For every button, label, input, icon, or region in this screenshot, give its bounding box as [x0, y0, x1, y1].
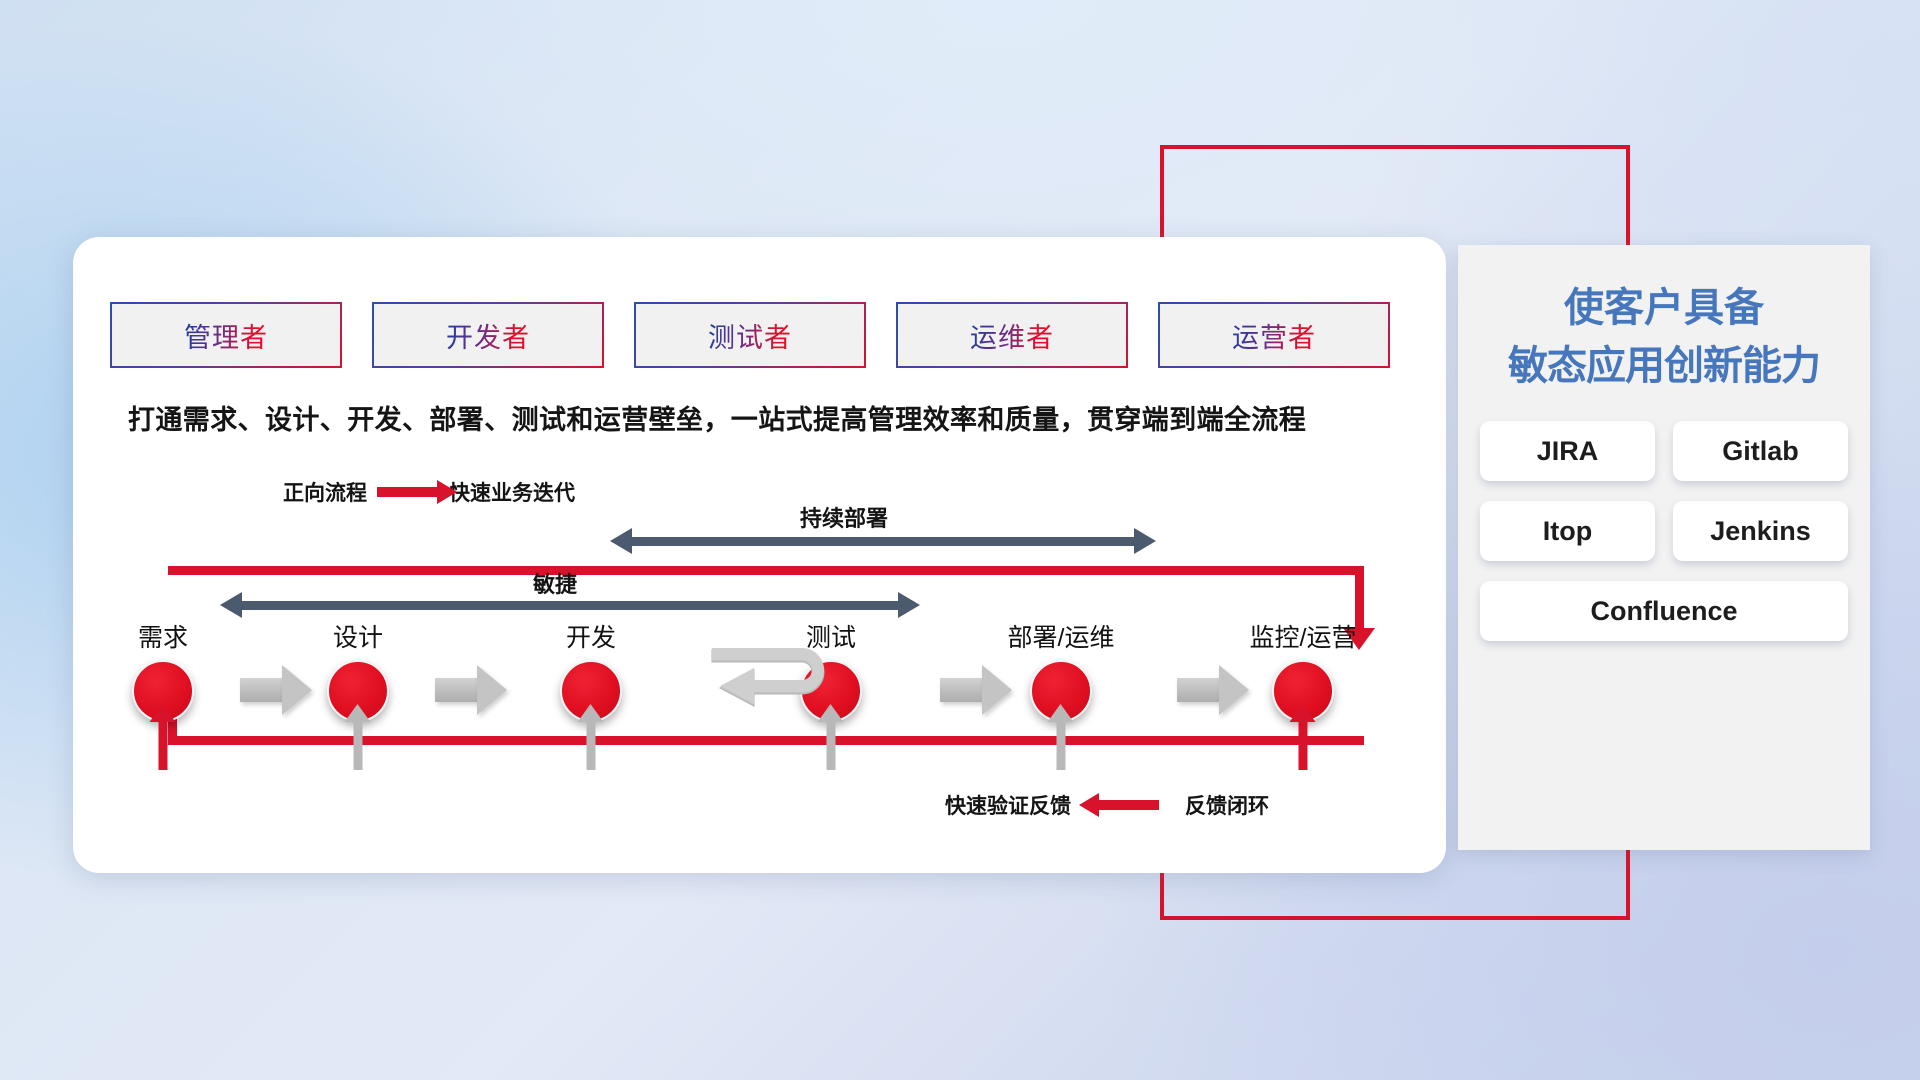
arrow-left-red-icon [1097, 800, 1159, 810]
flow-node-stem [159, 720, 168, 770]
flow-node-label: 需求 [138, 618, 188, 654]
flow-node-requirement[interactable]: 需求 [132, 660, 194, 722]
double-arrow-agile-icon [240, 601, 900, 610]
iteration-loop-arrow-icon [710, 640, 850, 720]
legend-feedback-right-label: 反馈闭环 [1185, 790, 1269, 820]
legend-feedback-left-label: 快速验证反馈 [945, 790, 1071, 820]
flow-node-label: 设计 [333, 618, 383, 654]
flow-node-stem [1299, 720, 1308, 770]
flow-node-label: 开发 [566, 618, 616, 654]
flow-node-deploy-ops[interactable]: 部署/运维 [1030, 660, 1092, 722]
span-label-agile: 敏捷 [533, 567, 577, 599]
flow-node-stem [354, 720, 363, 770]
double-arrow-continuous-deployment-icon [630, 537, 1136, 546]
legend-feedback-loop: 快速验证反馈 反馈闭环 [945, 790, 1269, 820]
span-label-continuous-deployment: 持续部署 [800, 501, 888, 533]
flow-node-design[interactable]: 设计 [327, 660, 389, 722]
flow-node-stem [1057, 720, 1066, 770]
flow-node-monitor-operations[interactable]: 监控/运营 [1272, 660, 1334, 722]
flow-node-stem [587, 720, 596, 770]
flow-node-development[interactable]: 开发 [560, 660, 622, 722]
flow-node-label: 监控/运营 [1250, 618, 1357, 654]
flow-node-label: 部署/运维 [1008, 618, 1115, 654]
flow-node-stem [827, 720, 836, 770]
